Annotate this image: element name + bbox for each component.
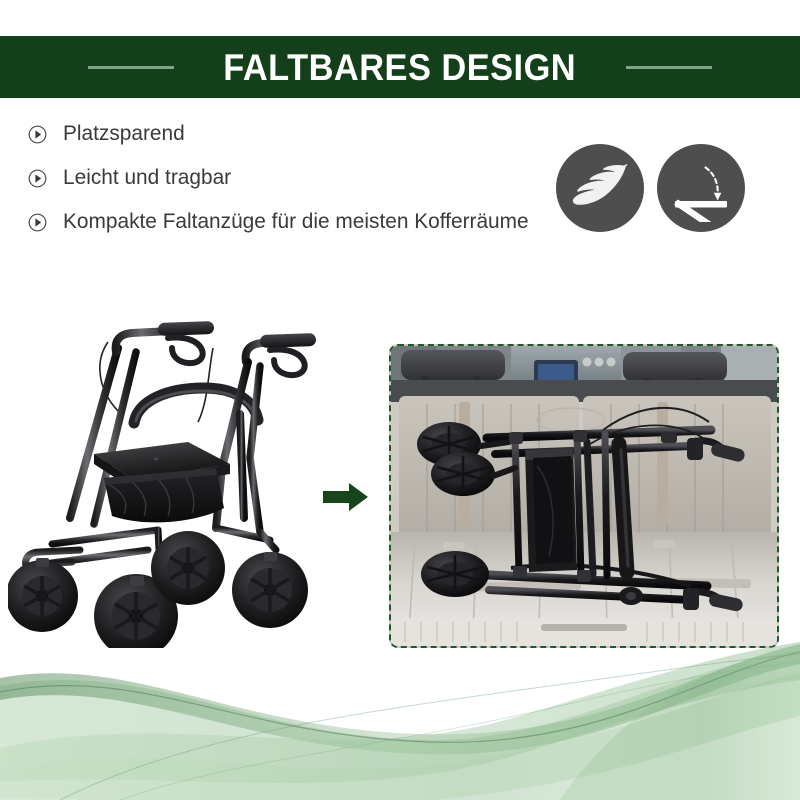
page-title: FALTBARES DESIGN (224, 49, 577, 86)
folding-angle-arrow-icon (665, 150, 737, 227)
header-banner-content: FALTBARES DESIGN (0, 49, 800, 86)
list-item-label: Platzsparend (63, 122, 185, 146)
feather-icon (565, 151, 635, 226)
list-item: Leicht und tragbar (28, 156, 568, 200)
decorative-rule-right-icon (626, 66, 712, 69)
list-item: Kompakte Faltanzüge für die meisten Koff… (28, 200, 568, 244)
badge-foldable (657, 144, 745, 232)
folded-rollator-in-car-trunk-photo (389, 344, 779, 648)
feature-list: Platzsparend Leicht und tragbar Kompakte… (28, 112, 568, 244)
circled-play-triangle-icon (28, 169, 47, 188)
list-item-label: Kompakte Faltanzüge für die meisten Koff… (63, 210, 529, 234)
header-banner: FALTBARES DESIGN (0, 36, 800, 98)
decorative-rule-left-icon (88, 66, 174, 69)
rollator-walker-unfolded-photo (8, 318, 328, 648)
list-item-label: Leicht und tragbar (63, 166, 231, 190)
list-item: Platzsparend (28, 112, 568, 156)
arrow-right-icon (323, 481, 369, 513)
feature-badges (556, 144, 745, 232)
badge-lightweight (556, 144, 644, 232)
infographic-page: FALTBARES DESIGN Platzsparend Leicht und (0, 0, 800, 800)
circled-play-triangle-icon (28, 213, 47, 232)
circled-play-triangle-icon (28, 125, 47, 144)
